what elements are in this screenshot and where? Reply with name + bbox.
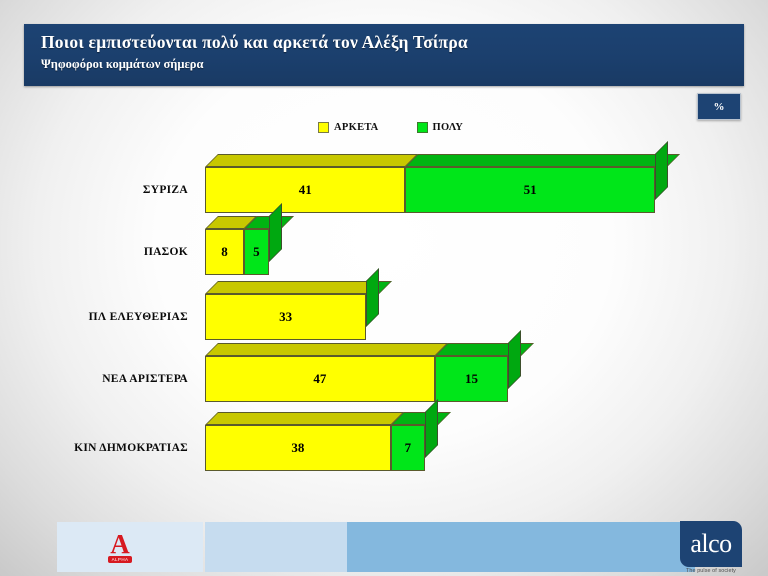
alpha-tv-logo: Α ALPHA <box>100 529 140 567</box>
bar-side-face <box>508 330 521 389</box>
bar-value-label: 47 <box>313 371 326 387</box>
bar-front-face: 15 <box>435 356 508 402</box>
alco-wordmark: alco <box>690 531 731 557</box>
bar-top-face <box>205 281 379 294</box>
alco-tagline: The pulse of society <box>680 568 742 574</box>
footer-block-3 <box>347 522 695 572</box>
bar-front-face: 33 <box>205 294 366 340</box>
bar-top-face <box>205 412 404 425</box>
slide: Ποιοι εμπιστεύονται πολύ και αρκετά τον … <box>0 0 768 576</box>
bar-front-face: 41 <box>205 167 405 213</box>
footer-bar: Α ALPHA alco The pulse of society <box>0 505 768 576</box>
bar-value-label: 41 <box>299 182 312 198</box>
bar-front-face: 7 <box>391 425 425 471</box>
bar-value-label: 7 <box>405 440 412 456</box>
chart-plot-area: ΣΥΡΙΖΑ4151ΠΑΣΟΚ85ΠΛ ΕΛΕΥΘΕΡΙΑΣ33ΝΕΑ ΑΡΙΣ… <box>0 0 768 576</box>
bar-front-face: 8 <box>205 229 244 275</box>
bar-value-label: 33 <box>279 309 292 325</box>
bar-value-label: 51 <box>524 182 537 198</box>
bar-top-face <box>405 154 680 167</box>
category-label-4: ΝΕΑ ΑΡΙΣΤΕΡΑ <box>20 373 188 385</box>
bar-top-face <box>205 154 418 167</box>
bar-side-face <box>655 141 668 200</box>
category-label-5: ΚΙΝ ΔΗΜΟΚΡΑΤΙΑΣ <box>20 442 188 454</box>
bar-front-face: 5 <box>244 229 268 275</box>
bar-top-face <box>205 343 448 356</box>
alco-logo: alco <box>680 521 742 567</box>
bar-front-face: 38 <box>205 425 391 471</box>
category-label-1: ΣΥΡΙΖΑ <box>20 184 188 196</box>
bar-value-label: 15 <box>465 371 478 387</box>
alpha-tv-letter: Α <box>110 533 130 555</box>
category-label-3: ΠΛ ΕΛΕΥΘΕΡΙΑΣ <box>20 311 188 323</box>
category-label-2: ΠΑΣΟΚ <box>20 246 188 258</box>
bar-value-label: 38 <box>291 440 304 456</box>
bar-value-label: 8 <box>221 244 228 260</box>
bar-side-face <box>425 399 438 458</box>
bar-front-face: 51 <box>405 167 654 213</box>
bar-side-face <box>366 268 379 327</box>
bar-front-face: 47 <box>205 356 435 402</box>
alpha-tv-wordmark: ALPHA <box>108 556 133 563</box>
bar-value-label: 5 <box>253 244 260 260</box>
